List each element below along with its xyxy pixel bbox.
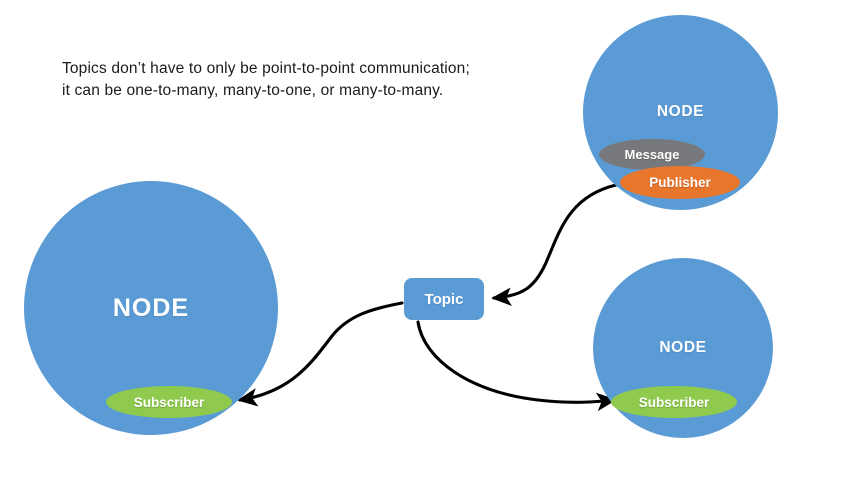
subscriber-oval-left[interactable]: Subscriber <box>106 386 232 418</box>
node-left-label: NODE <box>24 294 278 323</box>
edge-topic-to-bottom-right-subscriber <box>418 322 614 402</box>
node-bottom-right-label: NODE <box>593 339 773 357</box>
topic-box[interactable]: Topic <box>404 278 484 320</box>
subscriber-oval-bottom-right[interactable]: Subscriber <box>611 386 737 418</box>
node-top-right-label: NODE <box>583 103 778 121</box>
edge-publisher-to-topic <box>494 185 616 298</box>
diagram-canvas: Topics don’t have to only be point-to-po… <box>0 0 854 480</box>
publisher-oval[interactable]: Publisher <box>620 166 740 199</box>
caption-text: Topics don’t have to only be point-to-po… <box>62 58 482 103</box>
